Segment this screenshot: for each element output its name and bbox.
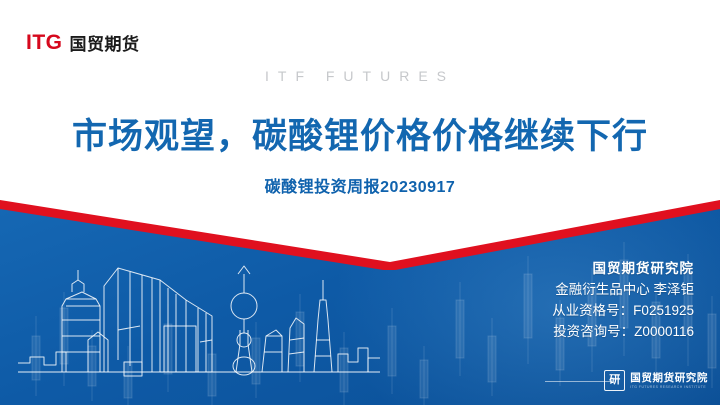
presentation-cover-slide: ITG 国贸期货 ITF FUTURES 市场观望，碳酸锂价格价格继续下行 碳酸… bbox=[0, 0, 720, 405]
brand-logo-latin: ITG bbox=[26, 31, 63, 55]
page-subtitle: 碳酸锂投资周报20230917 bbox=[0, 173, 720, 197]
brand-logo[interactable]: ITG 国贸期货 bbox=[26, 30, 140, 55]
author-info-block: 国贸期货研究院 金融衍生品中心 李泽钜 从业资格号：F0251925 投资咨询号… bbox=[552, 258, 694, 342]
author-consulting-id: 投资咨询号：Z0000116 bbox=[552, 321, 694, 342]
footer-badge-name-en: ITG FUTURES RESEARCH INSTITUTE bbox=[630, 384, 708, 390]
footer-divider bbox=[545, 381, 612, 382]
eyebrow-text: ITF FUTURES bbox=[0, 68, 720, 84]
author-qualification-id: 从业资格号：F0251925 bbox=[552, 300, 694, 321]
footer-badge: 研 国贸期货研究院 ITG FUTURES RESEARCH INSTITUTE bbox=[604, 370, 708, 391]
author-institute: 国贸期货研究院 bbox=[552, 258, 694, 279]
brand-logo-chinese: 国贸期货 bbox=[70, 30, 140, 55]
author-department-name: 金融衍生品中心 李泽钜 bbox=[552, 279, 694, 300]
page-title: 市场观望，碳酸锂价格价格继续下行 bbox=[0, 108, 720, 159]
research-seal-icon: 研 bbox=[604, 370, 625, 391]
footer-badge-name-cn: 国贸期货研究院 bbox=[630, 372, 708, 384]
footer-badge-text: 国贸期货研究院 ITG FUTURES RESEARCH INSTITUTE bbox=[630, 372, 708, 390]
